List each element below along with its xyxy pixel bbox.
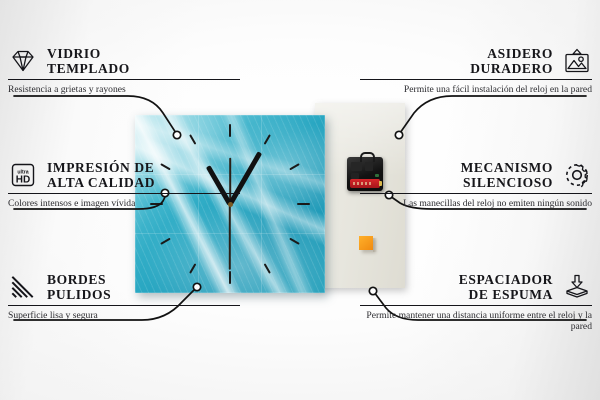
feature-impresion-alta-calidad[interactable]: ultra HD IMPRESIÓN DE ALTA CALIDAD Color… xyxy=(8,160,240,209)
feature-title: ESPACIADOR DE ESPUMA xyxy=(459,272,553,302)
feature-subtitle: Permite una fácil instalación del reloj … xyxy=(360,84,592,95)
feature-bordes-pulidos[interactable]: BORDES PULIDOS Superficie lisa y segura xyxy=(8,272,240,321)
title-rule xyxy=(8,193,240,194)
feature-asidero-duradero[interactable]: ASIDERO DURADERO Permite una fácil insta… xyxy=(360,46,592,95)
foam-spacer-icon xyxy=(562,274,592,300)
infographic-canvas: VIDRIO TEMPLADO Resistencia a grietas y … xyxy=(0,0,600,400)
feature-title: BORDES PULIDOS xyxy=(47,272,111,302)
diamond-icon xyxy=(8,48,38,74)
title-rule xyxy=(360,305,592,306)
feature-title: IMPRESIÓN DE ALTA CALIDAD xyxy=(47,160,155,190)
feature-subtitle: Superficie lisa y segura xyxy=(8,310,240,321)
feature-title: VIDRIO TEMPLADO xyxy=(47,46,130,76)
clock-hand-second-lower xyxy=(229,204,231,270)
feature-subtitle: Colores intensos e imagen vívida xyxy=(8,198,240,209)
feature-vidrio-templado[interactable]: VIDRIO TEMPLADO Resistencia a grietas y … xyxy=(8,46,240,95)
foam-spacer xyxy=(359,236,373,250)
feature-subtitle: Resistencia a grietas y rayones xyxy=(8,84,240,95)
polished-edges-icon xyxy=(8,274,38,300)
svg-text:HD: HD xyxy=(16,174,30,185)
title-rule xyxy=(8,79,240,80)
title-rule xyxy=(360,79,592,80)
ultra-hd-badge-icon: ultra HD xyxy=(8,162,38,188)
gear-icon xyxy=(562,162,592,188)
title-rule xyxy=(8,305,240,306)
feature-title: MECANISMO SILENCIOSO xyxy=(461,160,553,190)
title-rule xyxy=(360,193,592,194)
feature-title: ASIDERO DURADERO xyxy=(470,46,553,76)
feature-espaciador-espuma[interactable]: ESPACIADOR DE ESPUMA Permite mantener un… xyxy=(360,272,592,333)
feature-subtitle: Las manecillas del reloj no emiten ningú… xyxy=(360,198,592,209)
picture-hanger-icon xyxy=(562,48,592,74)
feature-subtitle: Permite mantener una distancia uniforme … xyxy=(360,310,592,333)
feature-mecanismo-silencioso[interactable]: MECANISMO SILENCIOSO Las manecillas del … xyxy=(360,160,592,209)
